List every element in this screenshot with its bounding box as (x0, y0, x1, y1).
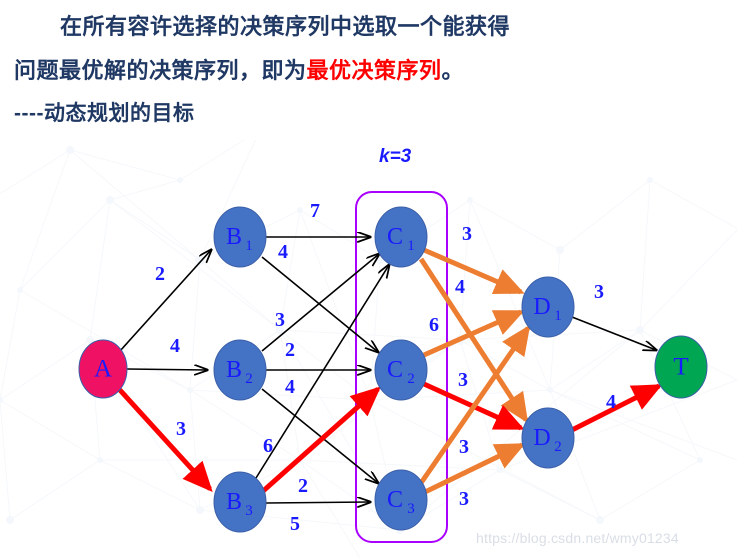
node-A-label: A (94, 356, 112, 383)
weight-B3-C1: 6 (263, 435, 273, 457)
edge-B3-C1 (256, 265, 389, 478)
node-C3[interactable]: C 3 (375, 470, 427, 530)
weight-C3-D2: 3 (459, 488, 469, 510)
node-C2-label: C (387, 357, 403, 383)
weight-B1-C2: 4 (278, 241, 288, 263)
node-T[interactable]: T (655, 336, 707, 398)
node-D1-sub: 1 (554, 308, 562, 324)
weight-B3-C2: 2 (298, 475, 308, 497)
node-A[interactable]: A (79, 340, 127, 398)
node-D1[interactable]: D 1 (522, 277, 574, 337)
node-B3-label: B (226, 489, 242, 515)
node-C1[interactable]: C 1 (375, 207, 427, 267)
weight-B2-C1: 3 (275, 309, 285, 331)
node-D2-sub: 2 (554, 439, 562, 455)
weight-B1-C1: 7 (310, 200, 320, 222)
node-C3-sub: 3 (407, 501, 415, 517)
node-T-label: T (673, 354, 688, 381)
edge-B1-C2 (262, 257, 378, 352)
node-C3-label: C (387, 487, 403, 513)
edge-group-a-b (119, 250, 211, 489)
weight-C2-D1: 6 (429, 314, 439, 336)
header-text-block: 在所有容许选择的决策序列中选取一个能获得 问题最优解的决策序列，即为最优决策序列… (0, 0, 737, 140)
weight-A-B2: 4 (170, 335, 180, 357)
weight-D2-T: 4 (606, 391, 616, 413)
weight-C1-D2: 4 (455, 276, 465, 298)
weight-B3-C3: 5 (290, 513, 300, 535)
diagram-canvas: A B 1 B 2 B 3 (0, 140, 737, 558)
edge-B3-C3 (266, 502, 370, 503)
edge-A-B1 (120, 250, 211, 351)
node-B2[interactable]: B 2 (214, 340, 266, 400)
node-B3-sub: 3 (245, 503, 253, 519)
weight-D1-T: 3 (594, 281, 604, 303)
edge-D1-T (572, 317, 656, 350)
node-D2[interactable]: D 2 (522, 408, 574, 468)
slide-page: 在所有容许选择的决策序列中选取一个能获得 问题最优解的决策序列，即为最优决策序列… (0, 0, 737, 558)
header-line-2-suffix: 。 (442, 58, 465, 83)
header-line-2-prefix: 问题最优解的决策序列，即为 (14, 58, 307, 83)
weight-A-B1: 2 (155, 263, 165, 285)
weight-C1-D1: 3 (462, 223, 472, 245)
dp-multistage-graph: A B 1 B 2 B 3 (0, 140, 737, 558)
edge-group-b-c (256, 237, 389, 503)
stage-k-label: k=3 (379, 146, 411, 168)
edge-group-c-d (421, 250, 528, 492)
header-line-2-highlight: 最优决策序列 (307, 58, 442, 83)
weight-B2-C3: 4 (285, 376, 295, 398)
edge-A-B3 (119, 389, 210, 489)
header-line-3: ----动态规划的目标 (14, 97, 194, 127)
node-C2-sub: 2 (407, 371, 415, 387)
edge-C1-D2 (421, 259, 526, 420)
weight-B2-C2: 2 (285, 339, 295, 361)
header-line-1: 在所有容许选择的决策序列中选取一个能获得 (60, 9, 510, 41)
node-B1[interactable]: B 1 (214, 207, 266, 267)
node-B2-sub: 2 (245, 371, 253, 387)
edge-A-B2 (127, 369, 207, 370)
edge-group-d-t (572, 317, 659, 430)
node-C1-label: C (387, 224, 403, 250)
node-B1-label: B (226, 224, 242, 250)
node-D1-label: D (533, 294, 550, 320)
node-C2[interactable]: C 2 (375, 340, 427, 400)
edge-B2-C1 (262, 254, 379, 351)
weight-A-B3: 3 (176, 418, 186, 440)
node-B3[interactable]: B 3 (214, 472, 266, 532)
node-C1-sub: 1 (407, 238, 415, 254)
node-B1-sub: 1 (245, 238, 253, 254)
watermark-text: https://blog.csdn.net/wmy01234 (476, 530, 679, 546)
weight-C2-D2: 3 (458, 369, 468, 391)
header-line-2: 问题最优解的决策序列，即为最优决策序列。 (14, 53, 464, 85)
node-D2-label: D (533, 425, 550, 451)
node-B2-label: B (226, 357, 242, 383)
weight-C3-D1: 3 (459, 436, 469, 458)
